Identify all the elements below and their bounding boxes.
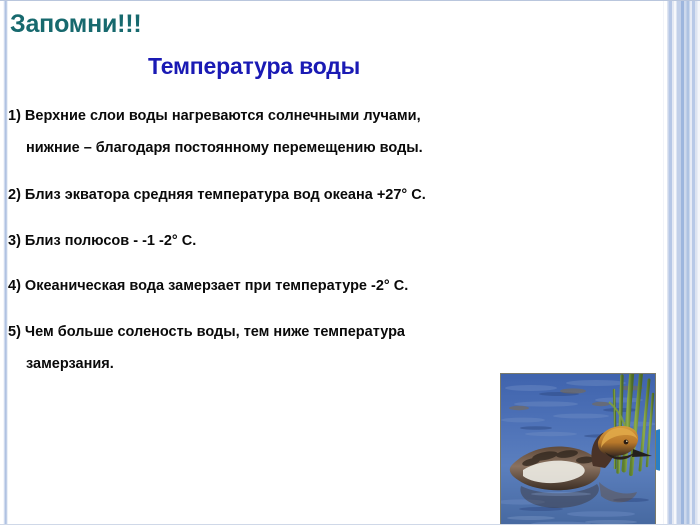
list-item-line1: 5) Чем больше соленость воды, тем ниже т… — [8, 324, 405, 340]
list-item-line1: 2) Близ экватора средняя температура вод… — [8, 187, 426, 203]
list-item-line1: 1) Верхние слои воды нагреваются солнечн… — [8, 108, 421, 124]
content-list: 1) Верхние слои воды нагреваются солнечн… — [8, 109, 608, 373]
list-item: 5) Чем больше соленость воды, тем ниже т… — [8, 325, 608, 373]
list-item-line2: замерзания. — [8, 357, 608, 373]
list-item: 2) Близ экватора средняя температура вод… — [8, 188, 608, 204]
list-item-line1: 4) Океаническая вода замерзает при темпе… — [8, 278, 408, 294]
list-item: 3) Близ полюсов - -1 -2° С. — [8, 234, 608, 250]
list-item-line2: нижние – благодаря постоянному перемещен… — [8, 141, 608, 157]
right-border-stripes — [660, 1, 700, 525]
list-item-line1: 3) Близ полюсов - -1 -2° С. — [8, 233, 196, 249]
page-title: Запомни!!! — [10, 10, 142, 39]
grebe-photo — [500, 373, 656, 525]
list-item: 1) Верхние слои воды нагреваются солнечн… — [8, 109, 608, 157]
slide-canvas: Запомни!!! Температура воды 1) Верхние с… — [0, 0, 700, 525]
list-item: 4) Океаническая вода замерзает при темпе… — [8, 279, 608, 295]
page-subtitle: Температура воды — [148, 53, 360, 80]
grebe-photo-illustration — [501, 374, 656, 525]
